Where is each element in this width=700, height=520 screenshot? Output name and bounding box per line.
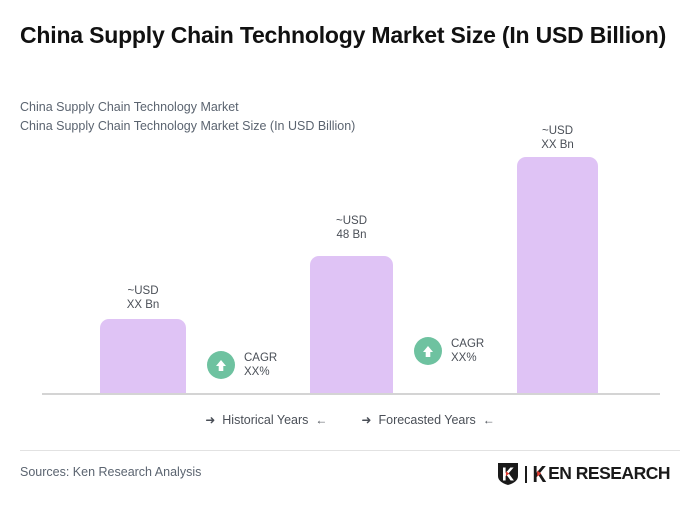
cagr-value: XX%	[244, 365, 277, 379]
ken-research-logo: EN RESEARCH	[497, 462, 670, 486]
x-axis-line	[42, 393, 660, 395]
legend-item-historical: ➜ Historical Years ←	[205, 413, 327, 427]
arrow-left-icon: ←	[483, 414, 495, 426]
logo-text-rest: EN RESEARCH	[548, 465, 670, 483]
arrow-right-icon: ➜	[205, 414, 215, 426]
bar-forecasted	[517, 157, 598, 393]
chart-page: China Supply Chain Technology Market Siz…	[0, 0, 700, 520]
bar-label-line-1: ~USD	[310, 214, 393, 228]
bar-label-line-1: ~USD	[100, 284, 186, 298]
arrow-up-icon	[414, 337, 442, 365]
logo-divider	[525, 466, 527, 483]
bar-label-line-2: 48 Bn	[310, 228, 393, 242]
bar-label-line-2: XX Bn	[100, 298, 186, 312]
bar-historical	[100, 319, 186, 393]
cagr-label: CAGR	[451, 337, 484, 351]
arrow-left-icon: ←	[315, 414, 327, 426]
cagr-badge-2: CAGR XX%	[414, 337, 484, 365]
bar-label-line-1: ~USD	[517, 124, 598, 138]
bar-label-historical: ~USD XX Bn	[100, 284, 186, 312]
arrow-up-icon	[207, 351, 235, 379]
logo-k-glyph-icon	[533, 465, 548, 483]
ken-research-shield-icon	[497, 462, 519, 486]
legend-item-forecasted: ➜ Forecasted Years ←	[361, 413, 494, 427]
bar-mid	[310, 256, 393, 393]
cagr-badge-text: CAGR XX%	[451, 337, 484, 365]
chart-plot-area: ~USD XX Bn ~USD 48 Bn ~USD XX Bn CAGR XX…	[0, 0, 700, 400]
cagr-badge-text: CAGR XX%	[244, 351, 277, 379]
sources-text: Sources: Ken Research Analysis	[20, 465, 201, 479]
footer-divider	[20, 450, 680, 451]
bar-label-forecasted: ~USD XX Bn	[517, 124, 598, 152]
chart-legend: ➜ Historical Years ← ➜ Forecasted Years …	[0, 410, 700, 430]
arrow-right-icon: ➜	[361, 414, 371, 426]
bar-label-line-2: XX Bn	[517, 138, 598, 152]
bar-label-mid: ~USD 48 Bn	[310, 214, 393, 242]
cagr-label: CAGR	[244, 351, 277, 365]
legend-label-historical: Historical Years	[222, 413, 308, 427]
logo-wordmark: EN RESEARCH	[533, 465, 670, 483]
cagr-badge-1: CAGR XX%	[207, 351, 277, 379]
cagr-value: XX%	[451, 351, 484, 365]
legend-label-forecasted: Forecasted Years	[378, 413, 475, 427]
